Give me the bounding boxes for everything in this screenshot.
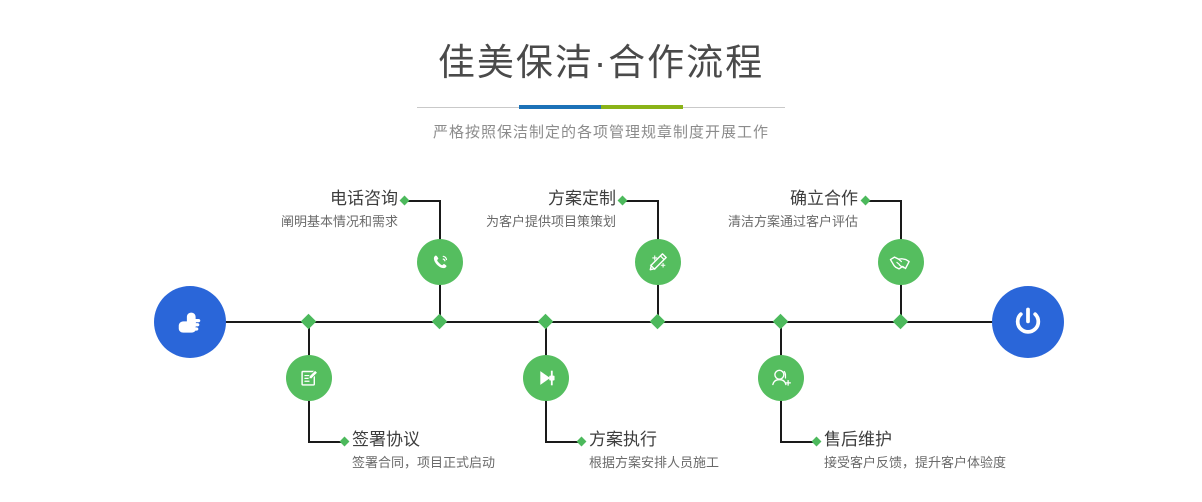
step-5-title: 确立合作 (612, 188, 858, 210)
power-icon (1008, 302, 1048, 342)
step-2-label: 签署协议 签署合同，项目正式启动 (352, 429, 612, 473)
step-5-label: 确立合作 清洁方案通过客户评估 (612, 188, 858, 232)
document-sign-icon (296, 365, 322, 391)
process-flow-infographic: 佳美保洁·合作流程 严格按照保洁制定的各项管理规章制度开展工作 (0, 0, 1202, 502)
timeline-end-node (992, 286, 1064, 358)
step-3-axis-diamond (650, 314, 666, 330)
step-4-icon-badge (523, 355, 569, 401)
step-1-label: 电话咨询 阐明基本情况和需求 (150, 188, 398, 232)
step-5-connector-horizontal (866, 200, 902, 202)
step-1-icon-badge (417, 239, 463, 285)
step-3-title: 方案定制 (370, 188, 616, 210)
step-2-icon-badge (286, 355, 332, 401)
thumb-pointing-hand-icon (170, 302, 210, 342)
step-6-axis-diamond (773, 314, 789, 330)
step-6-title: 售后维护 (824, 429, 1104, 451)
step-5-label-dot (861, 196, 871, 206)
step-3-icon-badge (635, 239, 681, 285)
step-1-title: 电话咨询 (150, 188, 398, 210)
timeline-start-node (154, 286, 226, 358)
customer-support-add-icon (768, 365, 794, 391)
step-5-icon-badge (878, 239, 924, 285)
step-1-axis-diamond (432, 314, 448, 330)
step-4-desc: 根据方案安排人员施工 (589, 453, 849, 473)
step-6-icon-badge (758, 355, 804, 401)
step-6-label: 售后维护 接受客户反馈，提升客户体验度 (824, 429, 1104, 473)
step-2-title: 签署协议 (352, 429, 612, 451)
timeline: 电话咨询 阐明基本情况和需求 签署协议 签署合同， (0, 0, 1202, 502)
step-5-axis-diamond (893, 314, 909, 330)
step-3-label: 方案定制 为客户提供项目策策划 (370, 188, 616, 232)
play-execute-icon (533, 365, 559, 391)
step-4-axis-diamond (538, 314, 554, 330)
step-4-title: 方案执行 (589, 429, 849, 451)
step-5-desc: 清洁方案通过客户评估 (612, 212, 858, 232)
step-3-desc: 为客户提供项目策策划 (370, 212, 616, 232)
step-1-desc: 阐明基本情况和需求 (150, 212, 398, 232)
step-6-desc: 接受客户反馈，提升客户体验度 (824, 453, 1104, 473)
step-2-label-dot (340, 437, 350, 447)
phone-call-icon (427, 249, 453, 275)
step-2-axis-diamond (301, 314, 317, 330)
step-2-desc: 签署合同，项目正式启动 (352, 453, 612, 473)
step-4-label: 方案执行 根据方案安排人员施工 (589, 429, 849, 473)
pencil-design-icon (645, 249, 671, 275)
handshake-icon (888, 249, 914, 275)
